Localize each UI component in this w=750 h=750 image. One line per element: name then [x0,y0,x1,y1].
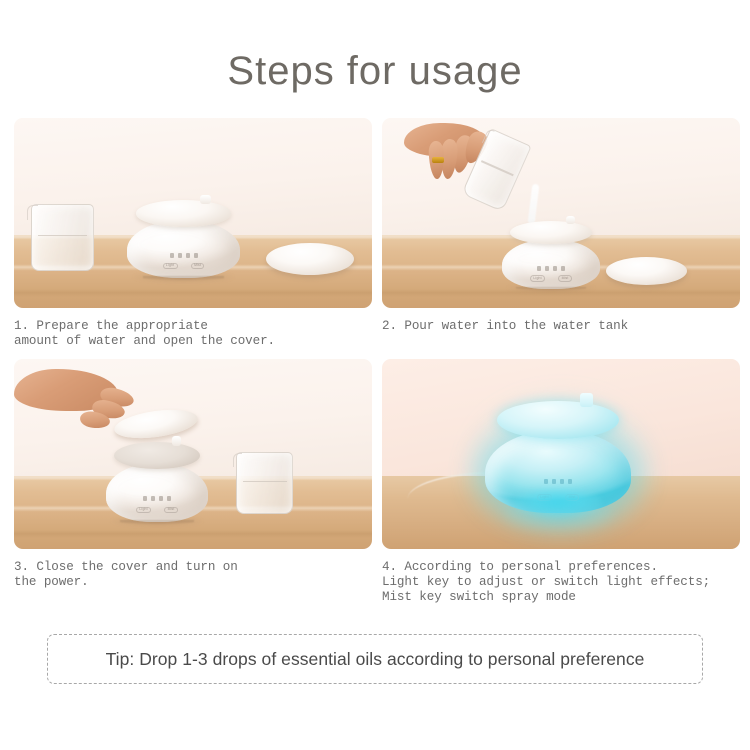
diffuser-device-4: Light Mist [485,401,631,513]
device-button-row: Light Mist [530,275,572,282]
device-button-row: Light Mist [136,507,178,514]
step-photo-3: Light Mist [14,359,372,549]
mist-button[interactable]: Mist [191,263,205,270]
step-photo-4: Light Mist [382,359,740,549]
steps-grid: Light Mist 1. Prepare the appropriate am… [14,118,740,605]
page-title: Steps for usage [0,49,750,94]
scene-1: Light Mist [14,118,372,308]
step-card-4: Light Mist 4. According to personal pref… [382,359,740,605]
device-cover-disc [606,257,687,285]
device-lid [497,401,620,439]
device-nozzle [200,195,210,204]
gold-ring [432,157,444,163]
measuring-cup [31,204,94,271]
infographic-page: Steps for usage [0,0,750,750]
diffuser-device-1: Light Mist [127,200,240,278]
device-nozzle [172,436,181,446]
scene-3: Light Mist [14,359,372,549]
device-open-rim [114,442,200,469]
device-feet [120,520,193,524]
device-feet [143,276,224,280]
indicator-dots [537,266,565,271]
scene-2: Light Mist [382,118,740,308]
indicator-dots [170,253,198,258]
diffuser-device-3: Light Mist [106,442,208,522]
light-button[interactable]: Light [530,275,545,282]
device-button-row: Light Mist [163,263,205,270]
step-caption-4: 4. According to personal preferences. Li… [382,560,740,605]
scene-4: Light Mist [382,359,740,549]
step-caption-1: 1. Prepare the appropriate amount of wat… [14,319,372,349]
step-caption-3: 3. Close the cover and turn on the power… [14,560,372,590]
device-lid [510,221,592,244]
tip-box: Tip: Drop 1-3 drops of essential oils ac… [47,634,703,684]
step-photo-1: Light Mist [14,118,372,308]
step-card-2: Light Mist 2. Pour water into the water … [382,118,740,349]
step-card-1: Light Mist 1. Prepare the appropriate am… [14,118,372,349]
device-cover-disc [266,243,354,275]
step-caption-2: 2. Pour water into the water tank [382,319,740,334]
device-lid [136,200,231,227]
light-button[interactable]: Light [136,507,151,514]
indicator-dots [544,479,572,484]
diffuser-device-2: Light Mist [502,221,600,289]
indicator-dots [143,496,171,501]
tip-text: Tip: Drop 1-3 drops of essential oils ac… [106,649,645,670]
step-photo-2: Light Mist [382,118,740,308]
device-nozzle [580,393,593,406]
mist-button[interactable]: Mist [164,507,178,514]
step-card-3: Light Mist 3. Close the cover and turn o… [14,359,372,605]
light-button[interactable]: Light [163,263,178,270]
device-nozzle [566,216,575,224]
mist-button[interactable]: Mist [558,275,572,282]
measuring-cup [236,452,293,514]
